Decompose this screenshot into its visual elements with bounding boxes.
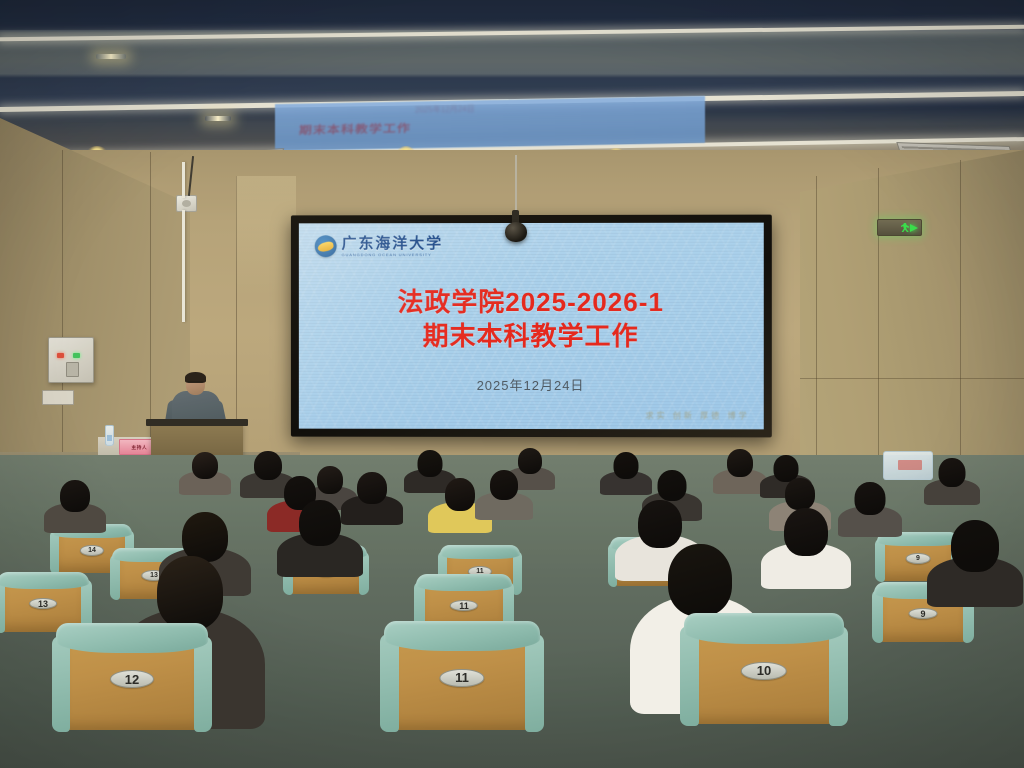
reflected-date-text: 2025年12月24日 — [415, 103, 475, 115]
audience-member-head — [518, 448, 542, 474]
university-logo-text: 广东海洋大学 GUANGDONG OCEAN UNIVERSITY — [342, 236, 444, 257]
bottled-water-pack — [883, 451, 933, 480]
control-panel-glyph — [66, 362, 79, 377]
slide-date: 2025年12月24日 — [299, 375, 764, 394]
seat-number-plaque: 9 — [909, 608, 938, 619]
seat-number-plaque: 10 — [741, 662, 787, 681]
presenter-glasses — [187, 381, 204, 386]
conduit-upper — [182, 162, 185, 198]
audience-member-head — [784, 508, 828, 556]
wall-seam-1 — [62, 150, 63, 480]
screen-surface: 广东海洋大学 GUANGDONG OCEAN UNIVERSITY 法政学院20… — [299, 223, 764, 430]
seat-number-plaque: 12 — [110, 670, 154, 688]
audience-member-head — [727, 449, 753, 477]
university-name-cn: 广东海洋大学 — [342, 236, 444, 251]
slide-title: 法政学院2025-2026-1 期末本科教学工作 — [299, 285, 764, 354]
university-logo: 广东海洋大学 GUANGDONG OCEAN UNIVERSITY — [315, 235, 443, 257]
placard-label-left: 主持人 — [131, 444, 147, 451]
seat-headrest — [440, 545, 520, 559]
seat-headrest — [0, 572, 89, 589]
audience-member-head — [638, 500, 682, 548]
seat-headrest — [416, 574, 511, 591]
audience-member-head — [658, 470, 687, 501]
arrow-right-icon — [910, 224, 918, 232]
wall-seam-4 — [816, 176, 817, 466]
audience-member-head — [445, 478, 475, 511]
audience-member-head — [418, 450, 443, 477]
audience-member-head — [182, 512, 228, 562]
slide-watermark: 求实 创新 厚德 博学 — [646, 410, 750, 421]
conduit-lower — [182, 210, 185, 322]
audience-member-head — [357, 472, 387, 504]
seat-side-right — [525, 634, 544, 732]
seat-side-right — [829, 626, 848, 726]
seat-side-left — [0, 579, 5, 633]
seat-side-left — [680, 626, 699, 726]
podium-top-surface — [146, 419, 248, 426]
running-person-icon — [901, 223, 909, 232]
audience-member-head — [299, 500, 341, 546]
audience-member-head — [785, 478, 815, 510]
audience-member-head — [60, 480, 90, 512]
wall-seam-5 — [878, 168, 879, 468]
exit-sign — [877, 219, 922, 236]
wall-control-panel[interactable] — [48, 337, 94, 383]
university-emblem-icon — [315, 235, 337, 257]
seat-headrest — [56, 623, 207, 653]
auditorium-seat[interactable]: 11 — [390, 628, 534, 730]
status-led-green — [73, 353, 80, 358]
exit-sign-glyphs — [901, 223, 918, 232]
wall-seam-6 — [960, 160, 961, 470]
seat-headrest — [384, 621, 540, 652]
audience-member-head — [254, 451, 282, 480]
slide-title-line-2: 期末本科教学工作 — [299, 319, 764, 353]
ceiling-spotlight-1 — [96, 54, 126, 59]
audience-member-head — [157, 556, 223, 630]
seat-side-left — [110, 554, 120, 600]
seat-number-plaque: 14 — [80, 545, 104, 556]
audience-member-head — [855, 482, 886, 515]
seat-number-plaque: 9 — [906, 553, 931, 564]
slide-title-line-1: 法政学院2025-2026-1 — [299, 285, 764, 319]
audience-member-head — [317, 466, 343, 494]
wall-light-wash — [236, 176, 296, 296]
wall-speaker — [176, 195, 197, 212]
seat-side-left — [52, 636, 70, 732]
screen-reflection-on-ceiling: 期末本科教学工作 2025年12月24日 — [275, 96, 705, 151]
water-bottle — [105, 425, 114, 446]
university-name-en: GUANGDONG OCEAN UNIVERSITY — [342, 253, 444, 257]
lecture-hall-photo: 期末本科教学工作 2025年12月24日 — [0, 0, 1024, 768]
led-display-screen[interactable]: 广东海洋大学 GUANGDONG OCEAN UNIVERSITY 法政学院20… — [291, 215, 772, 438]
auditorium-seat[interactable]: 12 — [62, 630, 202, 730]
seat-headrest — [684, 613, 844, 644]
audience-member-head — [939, 458, 966, 487]
hall-floor-and-seating: 1413121110913119121110 — [0, 455, 1024, 768]
audience-member-head — [192, 452, 218, 479]
audience-member-head — [614, 452, 639, 479]
seat-number-plaque: 13 — [29, 598, 57, 609]
reflected-title-text: 期末本科教学工作 — [299, 119, 412, 136]
audience-member-head — [951, 520, 999, 572]
seat-side-right — [194, 636, 212, 732]
ceiling-spotlight-2 — [205, 116, 231, 121]
seat-side-left — [380, 634, 399, 732]
audience-member-head — [668, 544, 732, 616]
status-led-red — [57, 353, 64, 358]
seat-side-left — [872, 589, 884, 643]
auditorium-seat[interactable]: 10 — [690, 620, 838, 724]
wall-seam-horizontal — [800, 378, 1024, 379]
ceiling-dark-band-top — [0, 0, 1024, 30]
wall-name-plate — [42, 390, 74, 405]
audience-member-head — [490, 470, 518, 500]
hanging-microphone — [505, 222, 527, 242]
